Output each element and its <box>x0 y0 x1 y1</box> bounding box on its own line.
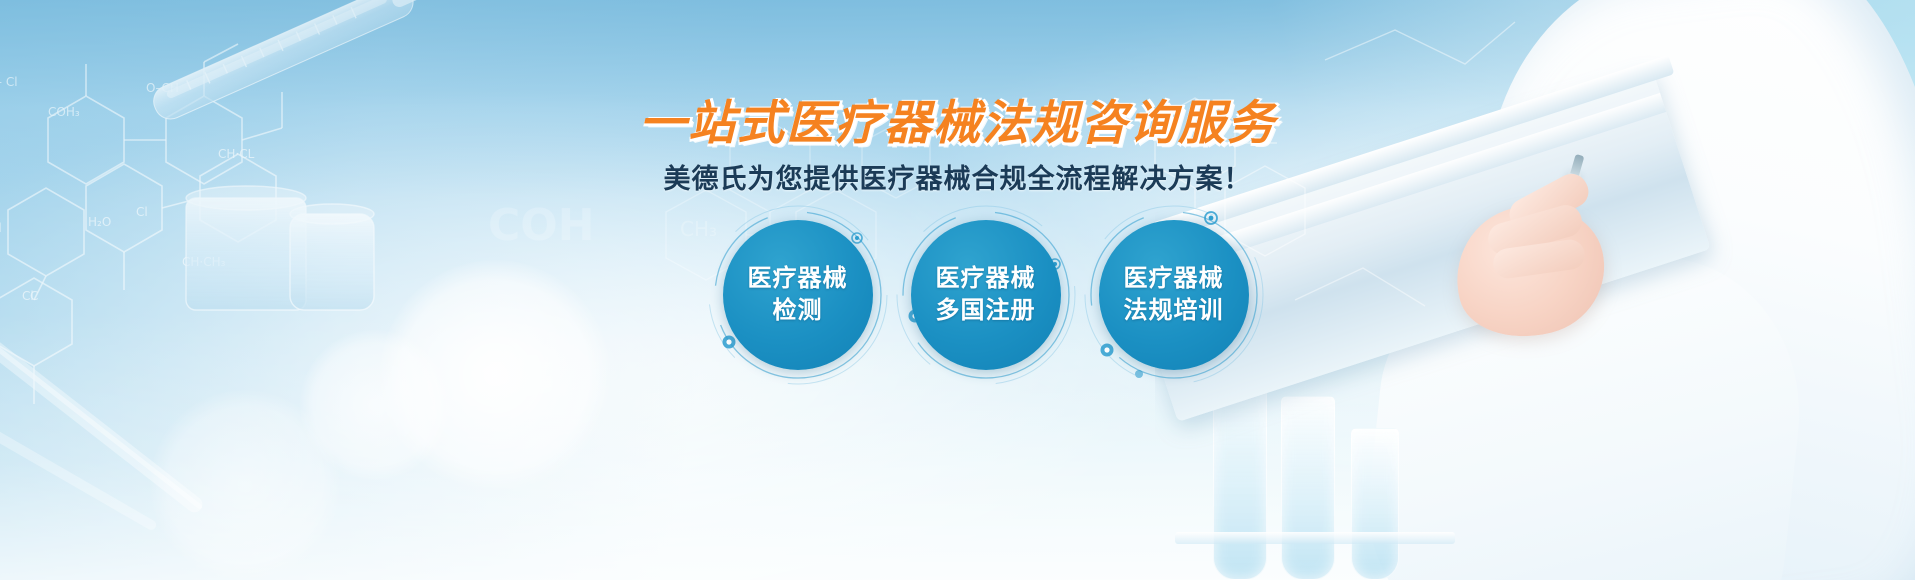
service-label-line2: 法规培训 <box>1124 295 1224 327</box>
service-circle-testing[interactable]: 医疗器械 检测 <box>723 220 873 370</box>
svg-text:CH·CL: CH·CL <box>218 147 255 161</box>
tube-rack <box>1175 532 1455 544</box>
bokeh-highlight <box>150 390 340 580</box>
service-label-line2: 多国注册 <box>936 295 1036 327</box>
service-circle-training[interactable]: 医疗器械 法规培训 <box>1099 220 1249 370</box>
service-circle-registration[interactable]: 医疗器械 多国注册 <box>911 220 1061 370</box>
svg-text:COH₃: COH₃ <box>48 105 80 119</box>
service-circle-list: 医疗器械 检测 医疗器械 多国注册 <box>0 220 1915 370</box>
hero-banner: – Cl O–CH COH₃ CH·CL H₂O Cl Cl CH·CH₃ Cl… <box>0 0 1915 580</box>
service-label-line1: 医疗器械 <box>1124 263 1224 295</box>
service-label-line1: 医疗器械 <box>936 263 1036 295</box>
test-tube <box>1351 428 1399 580</box>
service-label-line2: 检测 <box>773 295 823 327</box>
test-tube <box>1281 396 1335 580</box>
service-circle-body: 医疗器械 检测 <box>723 220 873 370</box>
svg-text:Cl: Cl <box>136 205 148 219</box>
svg-text:– Cl: – Cl <box>0 75 18 89</box>
service-circle-body: 医疗器械 多国注册 <box>911 220 1061 370</box>
service-circle-body: 医疗器械 法规培训 <box>1099 220 1249 370</box>
service-label-line1: 医疗器械 <box>748 263 848 295</box>
